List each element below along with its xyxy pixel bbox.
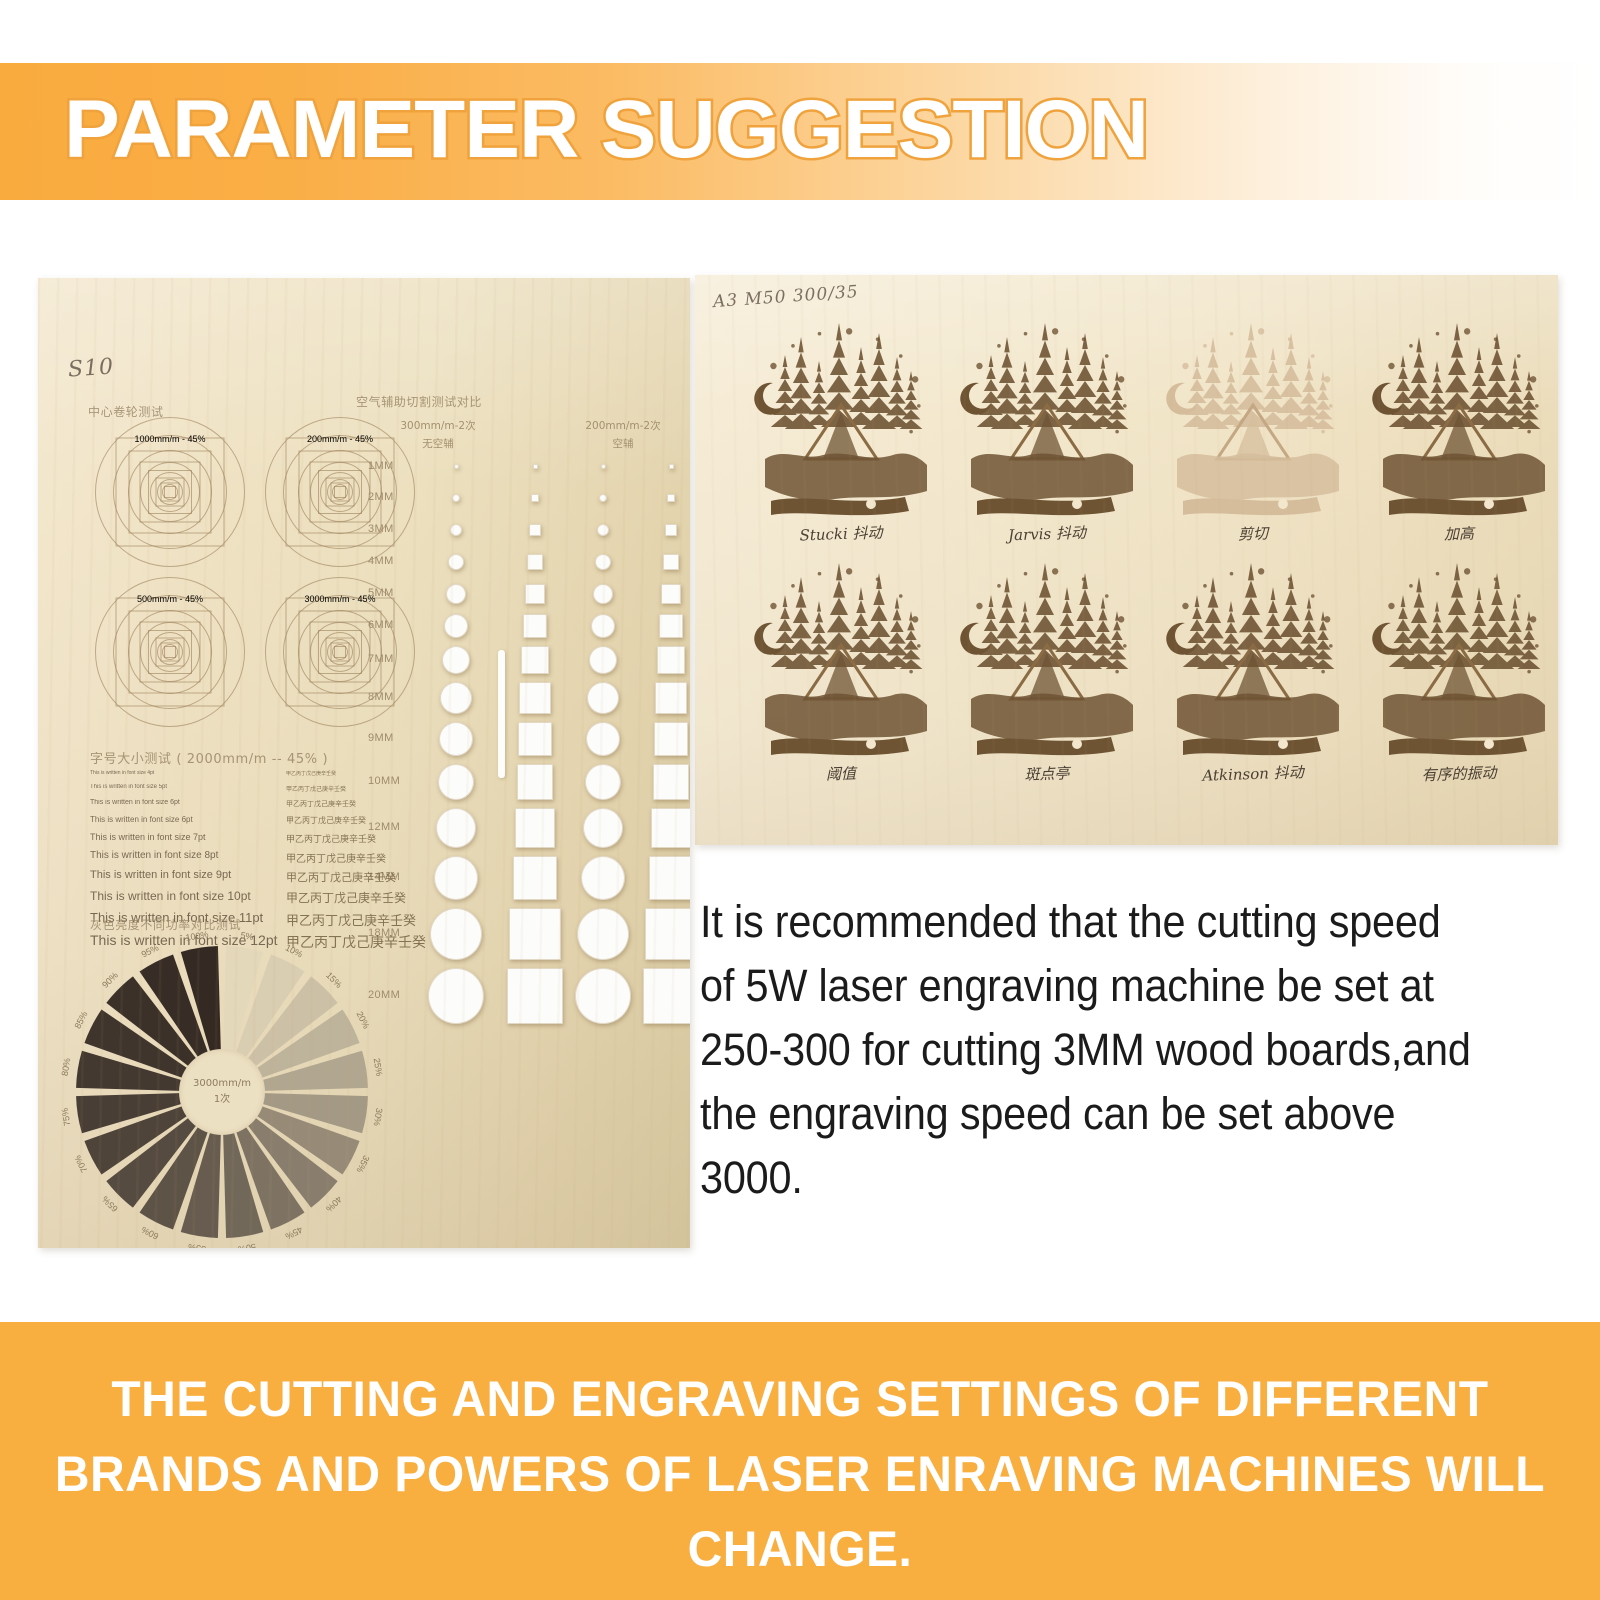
cut-through-circle — [430, 908, 482, 960]
ring-square — [164, 486, 176, 498]
log-banner — [1183, 737, 1321, 755]
star-dot — [1052, 328, 1058, 334]
star-dot — [976, 603, 982, 609]
star-dot — [917, 404, 921, 408]
cut-through-square — [531, 494, 539, 502]
footer-banner: THE CUTTING AND ENGRAVING SETTINGS OF DI… — [0, 1322, 1600, 1600]
cut-through-circle — [575, 968, 631, 1024]
ground-foliage — [765, 693, 927, 740]
engraving-sample: Atkinson 抖动 — [1155, 549, 1351, 781]
camping-scene-icon — [743, 549, 939, 759]
star-dot — [997, 584, 1001, 588]
matrix-row-label: 5MM — [368, 587, 394, 599]
star-dot — [1329, 404, 1333, 408]
star-dot — [1494, 337, 1498, 341]
star-dot — [1203, 584, 1207, 588]
power-wheel-label: 80% — [60, 1058, 73, 1077]
star-dot — [791, 344, 795, 348]
ground-foliage — [971, 693, 1133, 740]
cut-through-circle — [448, 554, 464, 570]
cut-test-board: S10 中心卷轮测试 1000mm/m - 45%200mm/m - 45%50… — [38, 278, 690, 1248]
font-size-sample-en: This is written in font size 6pt — [90, 799, 180, 806]
cut-through-square — [523, 614, 547, 638]
matrix-row-label: 8MM — [368, 691, 394, 703]
font-size-sample-cn: 甲乙丙丁戊己庚辛壬癸 — [286, 910, 416, 929]
font-size-sample-en: This is written in font size 4pt — [90, 770, 154, 776]
star-dot — [876, 337, 880, 341]
cut-through-square — [654, 722, 688, 756]
cut-through-circle — [601, 464, 606, 469]
recommendation-paragraph: It is recommended that the cutting speed… — [700, 890, 1473, 1210]
slot-cut-divider — [498, 650, 505, 778]
star-dot — [1230, 332, 1234, 336]
log-knot — [866, 499, 876, 509]
matrix-row-label: 20MM — [368, 989, 400, 1001]
font-size-sample-cn: 甲乙丙丁戊己庚辛壬癸 — [286, 784, 346, 793]
font-size-sample-en: This is written in font size 9pt — [90, 869, 231, 881]
star-dot — [1115, 430, 1119, 434]
cut-through-circle — [446, 584, 466, 604]
star-dot — [1527, 670, 1531, 674]
cut-through-circle — [454, 464, 459, 469]
ground-foliage — [765, 453, 927, 500]
star-dot — [1464, 328, 1470, 334]
font-size-sample-cn: 甲乙丙丁戊己庚辛壬癸 — [286, 770, 336, 777]
log-banner — [771, 737, 909, 755]
log-knot — [866, 739, 876, 749]
camping-scene-icon — [1361, 309, 1557, 519]
star-dot — [1118, 616, 1124, 622]
cut-through-circle — [439, 722, 473, 756]
power-wheel-label: 75% — [60, 1107, 73, 1126]
font-size-sample-cn: 甲乙丙丁戊己庚辛壬癸 — [286, 799, 356, 809]
engraving-sample: 阈值 — [743, 549, 939, 781]
star-dot — [846, 328, 852, 334]
wheel-hub-speed: 3000mm/m — [193, 1076, 251, 1092]
cut-through-circle — [593, 584, 613, 604]
cut-through-circle — [438, 764, 474, 800]
log-banner — [1389, 497, 1527, 515]
ground-foliage — [1383, 453, 1545, 500]
star-dot — [909, 430, 913, 434]
cut-through-circle — [595, 554, 611, 570]
font-test-title: 字号大小测试 ( 2000mm/m -- 45% ) — [90, 748, 328, 767]
matrix-row-label: 1MM — [368, 460, 394, 472]
cut-through-circle — [440, 682, 472, 714]
engraving-sample-board: A3 M50 300/35 Stucki 抖动Jarvis 抖动剪切加高阈值斑点… — [695, 275, 1558, 845]
log-knot — [1484, 739, 1494, 749]
star-dot — [1123, 404, 1127, 408]
matrix-group-header: 200mm/m-2次空辅 — [568, 418, 678, 451]
wheel-hub-passes: 1次 — [214, 1092, 230, 1108]
font-size-sample-cn: 甲乙丙丁戊己庚辛壬癸 — [286, 832, 376, 845]
power-wheel-label: 50% — [237, 1242, 256, 1248]
power-wheel-label: 55% — [188, 1242, 207, 1248]
cut-through-square — [663, 554, 679, 570]
main-content-area: S10 中心卷轮测试 1000mm/m - 45%200mm/m - 45%50… — [0, 200, 1600, 1322]
star-dot — [1258, 568, 1264, 574]
engraving-sample: 剪切 — [1155, 309, 1351, 541]
ring-test-label: 3000mm/m - 45% — [304, 594, 375, 604]
cut-through-square — [665, 524, 677, 536]
star-dot — [1436, 572, 1440, 576]
cut-through-circle — [587, 682, 619, 714]
matrix-header-speed: 200mm/m-2次 — [568, 418, 678, 433]
star-dot — [770, 603, 776, 609]
cut-through-square — [667, 494, 675, 502]
cut-through-circle — [444, 614, 468, 638]
engraving-caption: Jarvis 抖动 — [949, 520, 1146, 548]
font-size-sample-en: This is written in font size 7pt — [90, 832, 206, 842]
star-dot — [1527, 430, 1531, 434]
cut-through-square — [529, 524, 541, 536]
cut-through-square — [645, 908, 690, 960]
star-dot — [912, 376, 918, 382]
ground-foliage — [1383, 693, 1545, 740]
power-wheel-label: 30% — [372, 1107, 385, 1126]
engraving-sample: 斑点亭 — [949, 549, 1145, 781]
font-size-sample-cn: 甲乙丙丁戊己庚辛壬癸 — [286, 869, 396, 885]
engraving-caption: 阈值 — [743, 760, 940, 788]
star-dot — [1258, 328, 1264, 334]
star-dot — [1082, 577, 1086, 581]
engraving-caption: 加高 — [1361, 520, 1558, 548]
star-dot — [1464, 568, 1470, 574]
star-dot — [1436, 332, 1440, 336]
camping-scene-icon — [1155, 549, 1351, 759]
engraving-caption: 斑点亭 — [949, 760, 1146, 788]
star-dot — [1321, 670, 1325, 674]
board-pencil-mark: S10 — [67, 354, 115, 382]
log-banner — [977, 737, 1115, 755]
engraving-sample: Stucki 抖动 — [743, 309, 939, 541]
ring-test-figure: 3000mm/m - 45% — [266, 578, 414, 726]
cut-through-square — [515, 808, 555, 848]
cut-through-square — [661, 584, 681, 604]
star-dot — [1388, 363, 1394, 369]
star-dot — [1388, 603, 1394, 609]
star-dot — [1409, 584, 1413, 588]
cut-through-circle — [599, 494, 607, 502]
engraving-caption: Atkinson 抖动 — [1155, 760, 1352, 788]
cut-through-circle — [577, 908, 629, 960]
font-size-sample-en: This is written in font size 5pt — [90, 784, 167, 790]
cut-through-square — [659, 614, 683, 638]
matrix-title: 空气辅助切割测试对比 — [356, 393, 482, 410]
star-dot — [1311, 594, 1315, 598]
star-dot — [1105, 354, 1109, 358]
cut-through-square — [649, 856, 690, 900]
star-dot — [1329, 644, 1333, 648]
matrix-header-assist: 空辅 — [568, 436, 678, 451]
log-banner — [771, 497, 909, 515]
star-dot — [1182, 363, 1188, 369]
log-knot — [1484, 499, 1494, 509]
power-percentage-wheel: 3000mm/m 1次 5%10%15%20%25%30%35%40%45%50… — [76, 946, 368, 1238]
cut-through-circle — [428, 968, 484, 1024]
star-dot — [1494, 577, 1498, 581]
power-wheel-label: 5% — [239, 930, 253, 942]
log-knot — [1278, 739, 1288, 749]
matrix-row-label: 3MM — [368, 523, 394, 535]
star-dot — [818, 572, 822, 576]
star-dot — [1530, 616, 1536, 622]
star-dot — [1409, 344, 1413, 348]
matrix-group-header: 300mm/m-2次无空辅 — [383, 418, 493, 451]
font-size-sample-cn: 甲乙丙丁戊己庚辛壬癸 — [286, 850, 386, 865]
star-dot — [899, 594, 903, 598]
matrix-row-label: 10MM — [368, 775, 400, 787]
matrix-row-label: 6MM — [368, 619, 394, 631]
matrix-header-speed: 300mm/m-2次 — [383, 418, 493, 433]
star-dot — [1115, 670, 1119, 674]
footer-notice: THE CUTTING AND ENGRAVING SETTINGS OF DI… — [32, 1362, 1568, 1587]
engraving-caption: 剪切 — [1155, 520, 1352, 548]
log-knot — [1278, 499, 1288, 509]
star-dot — [791, 584, 795, 588]
star-dot — [1052, 568, 1058, 574]
camping-scene-icon — [1155, 309, 1351, 519]
camping-scene-icon — [949, 549, 1145, 759]
engraving-caption: 有序的振动 — [1361, 760, 1558, 788]
log-knot — [1072, 739, 1082, 749]
cut-through-square — [513, 856, 557, 900]
ground-foliage — [1177, 453, 1339, 500]
cut-through-circle — [589, 646, 617, 674]
star-dot — [1321, 430, 1325, 434]
font-size-sample-cn: 甲乙丙丁戊己庚辛壬癸 — [286, 815, 366, 826]
matrix-row-label: 2MM — [368, 491, 394, 503]
engraving-board-pencil-mark: A3 M50 300/35 — [712, 282, 859, 312]
cut-through-circle — [581, 856, 625, 900]
ring-test-figure: 1000mm/m - 45% — [96, 418, 244, 566]
star-dot — [770, 363, 776, 369]
cut-through-circle — [434, 856, 478, 900]
cut-through-square — [655, 682, 687, 714]
cut-through-circle — [442, 646, 470, 674]
cut-through-circle — [436, 808, 476, 848]
star-dot — [1530, 376, 1536, 382]
matrix-header-assist: 无空辅 — [383, 436, 493, 451]
star-dot — [912, 616, 918, 622]
star-dot — [1324, 616, 1330, 622]
log-knot — [1072, 499, 1082, 509]
star-dot — [976, 363, 982, 369]
ring-test-label: 1000mm/m - 45% — [134, 434, 205, 444]
star-dot — [846, 568, 852, 574]
cut-through-square — [521, 646, 549, 674]
engraving-caption: Stucki 抖动 — [743, 520, 940, 548]
star-dot — [1203, 344, 1207, 348]
font-size-sample-en: This is written in font size 6pt — [90, 815, 193, 824]
star-dot — [1024, 572, 1028, 576]
font-size-sample-en: This is written in font size 10pt — [90, 889, 251, 903]
cut-through-square — [643, 968, 690, 1024]
ring-test-label: 200mm/m - 45% — [307, 434, 373, 444]
cut-through-square — [651, 808, 690, 848]
star-dot — [1324, 376, 1330, 382]
cut-through-circle — [586, 722, 620, 756]
wheel-test-title: 灰色亮度不同功率对比测试 — [90, 916, 241, 933]
ring-square — [334, 646, 346, 658]
cut-through-circle — [450, 524, 462, 536]
star-dot — [1517, 594, 1521, 598]
cut-through-square — [533, 464, 538, 469]
wheel-hub: 3000mm/m 1次 — [179, 1049, 265, 1135]
cut-through-square — [509, 908, 561, 960]
log-banner — [977, 497, 1115, 515]
cut-through-circle — [597, 524, 609, 536]
star-dot — [1123, 644, 1127, 648]
star-dot — [899, 354, 903, 358]
cut-through-square — [669, 464, 674, 469]
camping-scene-icon — [743, 309, 939, 519]
ground-foliage — [1177, 693, 1339, 740]
star-dot — [818, 332, 822, 336]
star-dot — [997, 344, 1001, 348]
matrix-row-label: 9MM — [368, 732, 394, 744]
star-dot — [1118, 376, 1124, 382]
ring-square — [334, 486, 346, 498]
header-banner: PARAMETER SUGGESTION — [0, 63, 1600, 200]
ring-test-figure: 500mm/m - 45% — [96, 578, 244, 726]
star-dot — [1311, 354, 1315, 358]
power-wheel-label: 25% — [372, 1058, 385, 1077]
cut-through-square — [657, 646, 685, 674]
star-dot — [1288, 337, 1292, 341]
cut-through-circle — [583, 808, 623, 848]
cut-through-circle — [452, 494, 460, 502]
star-dot — [1517, 354, 1521, 358]
star-dot — [1182, 603, 1188, 609]
cut-through-square — [527, 554, 543, 570]
cut-through-square — [653, 764, 689, 800]
ring-test-label: 500mm/m - 45% — [137, 594, 203, 604]
star-dot — [1105, 594, 1109, 598]
cut-through-square — [517, 764, 553, 800]
star-dot — [1230, 572, 1234, 576]
star-dot — [1535, 404, 1539, 408]
page-title: PARAMETER SUGGESTION — [64, 77, 1148, 183]
font-size-sample-cn: 甲乙丙丁戊己庚辛壬癸 — [286, 889, 406, 906]
matrix-row-label: 4MM — [368, 555, 394, 567]
camping-scene-icon — [1361, 549, 1557, 759]
star-dot — [909, 670, 913, 674]
log-banner — [1183, 497, 1321, 515]
engraving-sample: Jarvis 抖动 — [949, 309, 1145, 541]
cut-through-circle — [591, 614, 615, 638]
camping-scene-icon — [949, 309, 1145, 519]
ring-square — [164, 646, 176, 658]
cut-through-square — [525, 584, 545, 604]
star-dot — [917, 644, 921, 648]
engraving-sample: 有序的振动 — [1361, 549, 1557, 781]
star-dot — [1535, 644, 1539, 648]
matrix-row-label: 7MM — [368, 653, 394, 665]
cut-through-square — [518, 722, 552, 756]
star-dot — [1082, 337, 1086, 341]
engraving-sample: 加高 — [1361, 309, 1557, 541]
star-dot — [1024, 332, 1028, 336]
star-dot — [876, 577, 880, 581]
font-size-sample-en: This is written in font size 8pt — [90, 850, 218, 861]
log-banner — [1389, 737, 1527, 755]
star-dot — [1288, 577, 1292, 581]
cut-through-square — [519, 682, 551, 714]
cut-through-circle — [585, 764, 621, 800]
cut-through-square — [507, 968, 563, 1024]
ground-foliage — [971, 453, 1133, 500]
